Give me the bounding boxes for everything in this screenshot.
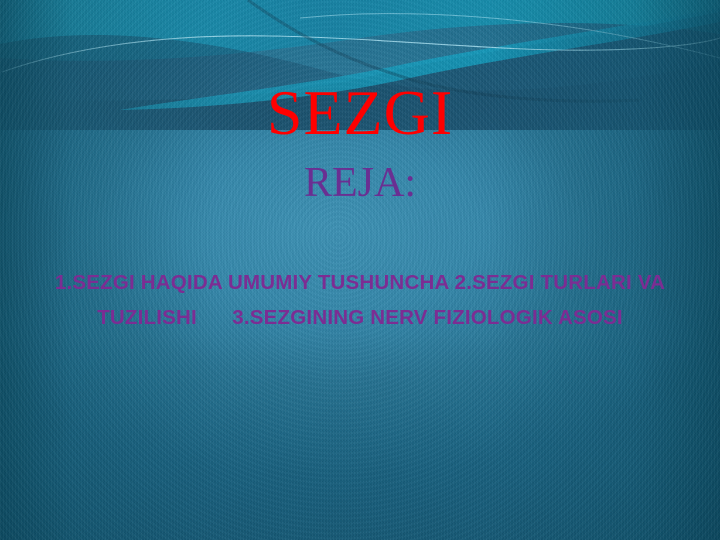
slide-outline-text: 1.SEZGI HAQIDA UMUMIY TUSHUNCHA 2.SEZGI … <box>52 265 668 335</box>
slide-content: SEZGI REJA: 1.SEZGI HAQIDA UMUMIY TUSHUN… <box>0 0 720 540</box>
slide-title: SEZGI <box>0 81 720 145</box>
slide-subtitle: REJA: <box>0 162 720 204</box>
presentation-slide: SEZGI REJA: 1.SEZGI HAQIDA UMUMIY TUSHUN… <box>0 0 720 540</box>
